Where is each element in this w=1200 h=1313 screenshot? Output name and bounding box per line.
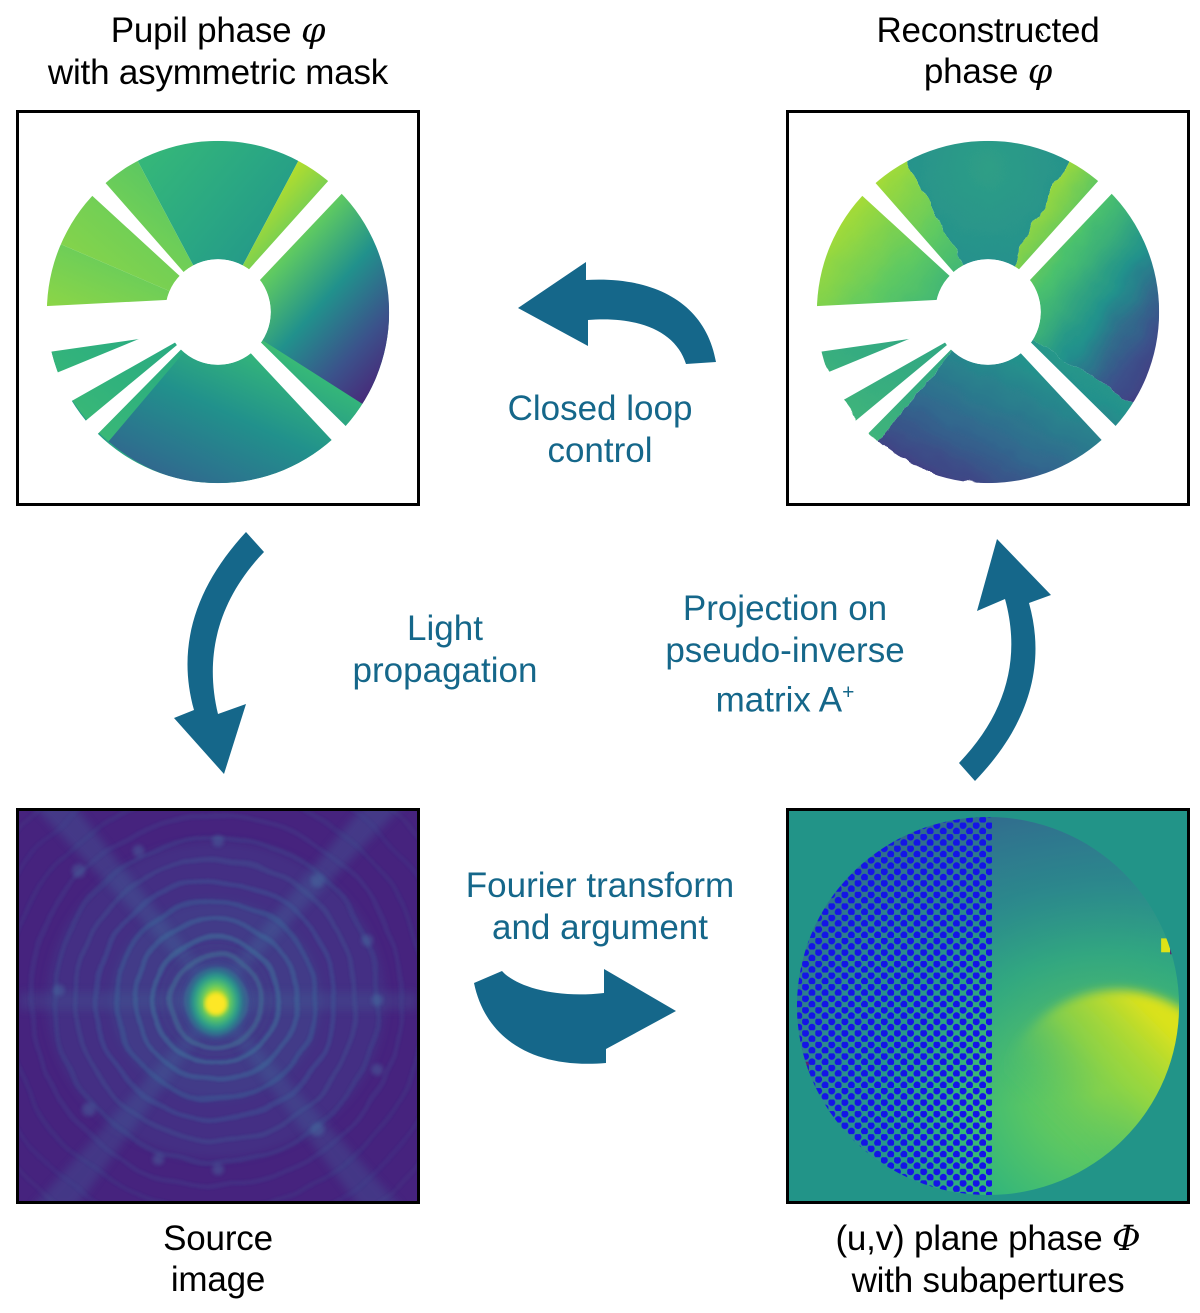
caption-uv-line2: with subapertures [852,1261,1125,1300]
panel-source-image [16,808,420,1204]
label-projection-line2: pseudo-inverse [665,631,904,670]
caption-source-line1: Source [163,1219,273,1258]
caption-uv-line1: (u,v) plane phase [835,1219,1112,1258]
label-fourier-transform: Fourier transform and argument [430,865,770,949]
diagram-stage: Pupil phase φwith asymmetric mask Recons… [0,0,1200,1313]
caption-recon-line2: phase [924,52,1028,91]
panel-pupil-phase [16,110,420,506]
uv-plane-image [789,811,1187,1201]
caption-recon-line1: Reconstructed [876,11,1099,50]
label-projection-line1: Projection on [683,589,887,628]
caption-pupil-phase: Pupil phase φwith asymmetric mask [16,10,420,93]
phi-symbol: φ [1028,52,1052,92]
arrow-fourier-transform [470,965,720,1075]
phi-symbol: φ [301,11,325,51]
pupil-phase-image [19,113,417,503]
arrow-light-propagation [160,528,290,778]
label-light-propagation: Light propagation [320,608,570,692]
caption-source-line2: image [171,1260,265,1299]
caption-reconstructed-phase: Reconstructedphase ˄φ [786,10,1190,93]
label-projection-superscript: + [842,681,854,704]
label-closed-loop-control: Closed loop control [450,388,750,472]
panel-uv-plane [786,808,1190,1204]
arrow-projection [935,535,1065,785]
caption-pupil-line2: with asymmetric mask [48,53,388,92]
capital-phi-symbol: Φ [1112,1219,1141,1259]
panel-reconstructed-phase [786,110,1190,506]
hat-accent-icon: ˄ [1034,31,1045,54]
caption-uv-plane: (u,v) plane phase Φwith subapertures [786,1218,1190,1301]
caption-pupil-line1: Pupil phase [111,11,301,50]
psf-image [19,811,417,1201]
label-projection-line3: matrix A [716,681,842,720]
phi-hat-group: ˄φ [1028,51,1052,93]
caption-source-image: Sourceimage [16,1218,420,1300]
reconstructed-phase-image [789,113,1187,503]
label-projection: Projection onpseudo-inversematrix A+ [640,588,930,722]
arrow-closed-loop [470,258,720,368]
